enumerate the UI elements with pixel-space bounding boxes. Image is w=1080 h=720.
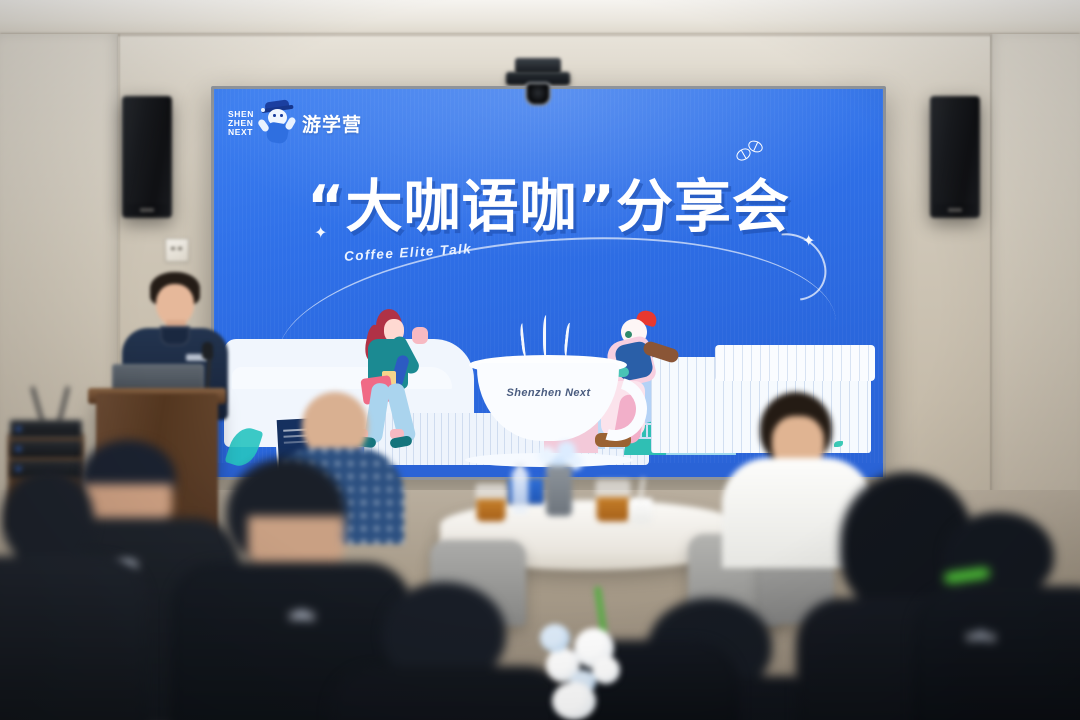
presenter-collar <box>160 326 190 346</box>
speaker-grill <box>126 100 168 204</box>
steam-line-2 <box>543 315 551 359</box>
av-led-1 <box>16 427 21 431</box>
wall-panel-right <box>990 34 1080 534</box>
slide-brand-logo: SHEN ZHEN NEXT 游学营 <box>228 101 362 145</box>
steam-line-3 <box>563 322 574 358</box>
audience-member-lanyard <box>930 512 1080 720</box>
brand-line-3: NEXT <box>228 128 254 137</box>
foreground-flower-arrangement <box>540 586 660 720</box>
wall-seam-right <box>990 34 992 494</box>
sparkle-icon-right: ✦ <box>802 231 815 251</box>
speaker-grill <box>934 100 976 204</box>
steam-line-1 <box>519 322 530 358</box>
wall-outlet-icon <box>165 238 189 262</box>
iced-tea-glass-left <box>476 484 506 522</box>
water-bottle <box>512 470 528 514</box>
cup-brand-label: Shenzhen Next <box>459 387 639 399</box>
wall-speaker-left <box>122 96 172 218</box>
ceiling-camera-icon <box>525 82 551 106</box>
microphone-icon <box>202 342 213 360</box>
woman-hand <box>412 327 428 344</box>
blue-flower-1 <box>540 624 570 652</box>
ceiling <box>0 0 1080 34</box>
audience-shoulders <box>0 556 148 720</box>
av-led-2 <box>16 447 21 451</box>
av-receiver-1 <box>10 420 82 438</box>
mascot-eye-right <box>280 114 283 117</box>
audience-member-center-front <box>356 582 542 720</box>
sparkle-icon-left: ✦ <box>314 223 327 243</box>
audience-head <box>2 470 94 566</box>
hoodie-logo <box>964 630 998 644</box>
program-name-label: 游学营 <box>302 110 362 137</box>
white-rose-3 <box>592 656 620 684</box>
iced-tea-glass-right <box>596 480 630 522</box>
white-wall-panel-upper <box>715 345 875 381</box>
woman-shoe-right <box>389 435 412 449</box>
hoodie-logo <box>288 610 316 622</box>
wall-speaker-right <box>930 96 980 218</box>
brand-wordmark: SHEN ZHEN NEXT <box>228 110 254 137</box>
ceiling-trim <box>0 33 1080 36</box>
graduate-mascot-icon <box>259 101 297 145</box>
conference-photo-scene: SHEN ZHEN NEXT 游学营 “大咖语咖”分享会 <box>0 0 1080 720</box>
mascot-eye-left <box>273 114 276 117</box>
audience-shoulders <box>328 666 572 720</box>
cap-tassel <box>261 108 265 112</box>
audience-black-hoodie <box>912 586 1080 720</box>
white-rose-4 <box>552 682 596 720</box>
audience-member-far-left <box>0 470 118 720</box>
flower-vase <box>546 466 572 516</box>
